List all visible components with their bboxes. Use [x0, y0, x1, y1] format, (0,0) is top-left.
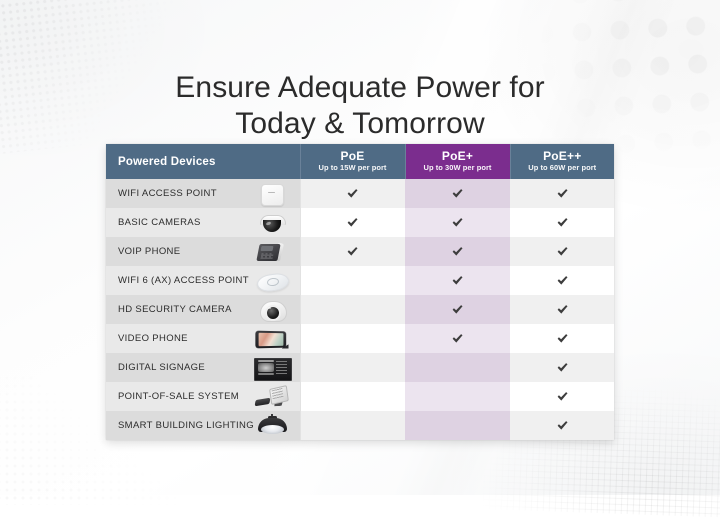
device-cell: WIFI 6 (AX) ACCESS POINT — [106, 266, 300, 295]
high-bay-light-icon — [252, 414, 292, 438]
table-row: VIDEO PHONE — [106, 324, 614, 353]
poe-plusplus-cell — [510, 208, 614, 237]
device-cell: BASIC CAMERAS — [106, 208, 300, 237]
table-row: BASIC CAMERAS — [106, 208, 614, 237]
check-icon — [556, 332, 569, 345]
tier-name: PoE — [301, 150, 405, 163]
column-header-poe-plusplus: PoE++ Up to 60W per port — [510, 144, 614, 179]
digital-signage-icon-part — [276, 361, 287, 374]
device-cell: VOIP PHONE — [106, 237, 300, 266]
poe-cell — [300, 266, 405, 295]
check-icon — [451, 274, 464, 287]
wifi6-access-point-icon — [252, 269, 292, 293]
tier-name: PoE++ — [511, 150, 615, 163]
check-icon — [556, 361, 569, 374]
check-icon — [556, 419, 569, 432]
poe-plus-cell — [405, 411, 510, 440]
tier-wattage: Up to 60W per port — [511, 164, 615, 172]
check-icon — [346, 187, 359, 200]
table-row: WIFI 6 (AX) ACCESS POINT — [106, 266, 614, 295]
digital-signage-icon-part — [258, 363, 274, 372]
poe-cell — [300, 411, 405, 440]
poe-plus-cell — [405, 179, 510, 208]
device-label: POINT-OF-SALE SYSTEM — [118, 391, 248, 402]
device-label: DIGITAL SIGNAGE — [118, 362, 248, 373]
check-icon — [451, 303, 464, 316]
check-icon — [556, 216, 569, 229]
poe-plus-cell — [405, 295, 510, 324]
poe-cell — [300, 208, 405, 237]
table-row: DIGITAL SIGNAGE — [106, 353, 614, 382]
column-header-poe: PoE Up to 15W per port — [300, 144, 405, 179]
poe-plusplus-cell — [510, 411, 614, 440]
poe-plusplus-cell — [510, 237, 614, 266]
table-row: VOIP PHONE — [106, 237, 614, 266]
check-icon — [556, 303, 569, 316]
check-icon — [556, 187, 569, 200]
point-of-sale-icon — [252, 385, 292, 409]
poe-plusplus-cell — [510, 266, 614, 295]
device-cell: DIGITAL SIGNAGE — [106, 353, 300, 382]
device-label: VIDEO PHONE — [118, 333, 248, 344]
poe-cell — [300, 324, 405, 353]
turret-camera-icon-part — [268, 307, 272, 310]
video-phone-icon-part — [258, 332, 283, 346]
table-header: Powered Devices PoE Up to 15W per port P… — [106, 144, 614, 179]
wifi-access-point-icon-part — [261, 184, 284, 206]
check-icon — [451, 216, 464, 229]
device-label: HD SECURITY CAMERA — [118, 304, 248, 315]
voip-desk-phone-icon-part — [260, 246, 273, 251]
check-icon — [451, 332, 464, 345]
tier-wattage: Up to 30W per port — [406, 164, 510, 172]
poe-plusplus-cell — [510, 179, 614, 208]
video-phone-icon — [252, 327, 292, 351]
digital-signage-icon — [252, 356, 292, 380]
table-row: HD SECURITY CAMERA — [106, 295, 614, 324]
check-icon — [556, 390, 569, 403]
poe-plus-cell — [405, 266, 510, 295]
poe-cell — [300, 237, 405, 266]
page-title-line-1: Ensure Adequate Power for — [0, 70, 720, 106]
column-header-label: Powered Devices — [118, 156, 216, 168]
dome-camera-icon-part — [263, 220, 281, 232]
voip-desk-phone-icon-part — [260, 253, 273, 259]
poe-cell — [300, 179, 405, 208]
page-title-line-2: Today & Tomorrow — [0, 106, 720, 142]
device-cell: HD SECURITY CAMERA — [106, 295, 300, 324]
poe-plus-cell — [405, 324, 510, 353]
device-label: WIFI 6 (AX) ACCESS POINT — [118, 275, 248, 286]
poe-plusplus-cell — [510, 295, 614, 324]
column-header-poe-plus: PoE+ Up to 30W per port — [405, 144, 510, 179]
wifi-access-point-icon-part — [268, 192, 275, 194]
device-cell: WIFI ACCESS POINT — [106, 179, 300, 208]
point-of-sale-icon-part — [254, 397, 270, 406]
tier-wattage: Up to 15W per port — [301, 164, 405, 172]
poe-plusplus-cell — [510, 353, 614, 382]
poe-plus-cell — [405, 237, 510, 266]
table-header-row: Powered Devices PoE Up to 15W per port P… — [106, 144, 614, 179]
high-bay-light-icon-part — [261, 425, 284, 434]
poe-cell — [300, 353, 405, 382]
wifi-access-point-icon — [252, 182, 292, 206]
turret-camera-icon — [252, 298, 292, 322]
digital-signage-icon-part — [258, 373, 274, 375]
table-row: POINT-OF-SALE SYSTEM — [106, 382, 614, 411]
check-icon — [451, 187, 464, 200]
check-icon — [556, 245, 569, 258]
table-row: WIFI ACCESS POINT — [106, 179, 614, 208]
tier-name: PoE+ — [406, 150, 510, 163]
poe-plusplus-cell — [510, 324, 614, 353]
poe-plusplus-cell — [510, 382, 614, 411]
check-icon — [451, 245, 464, 258]
poe-cell — [300, 382, 405, 411]
poe-comparison-table: Powered Devices PoE Up to 15W per port P… — [106, 144, 614, 440]
check-icon — [556, 274, 569, 287]
column-header-powered-devices: Powered Devices — [106, 144, 300, 179]
poe-plus-cell — [405, 208, 510, 237]
device-label: VOIP PHONE — [118, 246, 248, 257]
device-label: SMART BUILDING LIGHTING — [118, 420, 248, 431]
dome-camera-icon — [252, 211, 292, 235]
table-body: WIFI ACCESS POINTBASIC CAMERASVOIP PHONE… — [106, 179, 614, 440]
slide-canvas: Ensure Adequate Power for Today & Tomorr… — [0, 0, 720, 495]
device-cell: VIDEO PHONE — [106, 324, 300, 353]
device-cell: POINT-OF-SALE SYSTEM — [106, 382, 300, 411]
device-label: WIFI ACCESS POINT — [118, 188, 248, 199]
digital-signage-icon-part — [258, 360, 274, 362]
poe-plus-cell — [405, 382, 510, 411]
table-row: SMART BUILDING LIGHTING — [106, 411, 614, 440]
point-of-sale-icon-part — [271, 387, 283, 398]
poe-plus-cell — [405, 353, 510, 382]
page-title: Ensure Adequate Power for Today & Tomorr… — [0, 70, 720, 142]
poe-cell — [300, 295, 405, 324]
check-icon — [346, 216, 359, 229]
device-label: BASIC CAMERAS — [118, 217, 248, 228]
check-icon — [346, 245, 359, 258]
voip-desk-phone-icon — [252, 240, 292, 264]
device-cell: SMART BUILDING LIGHTING — [106, 411, 300, 440]
